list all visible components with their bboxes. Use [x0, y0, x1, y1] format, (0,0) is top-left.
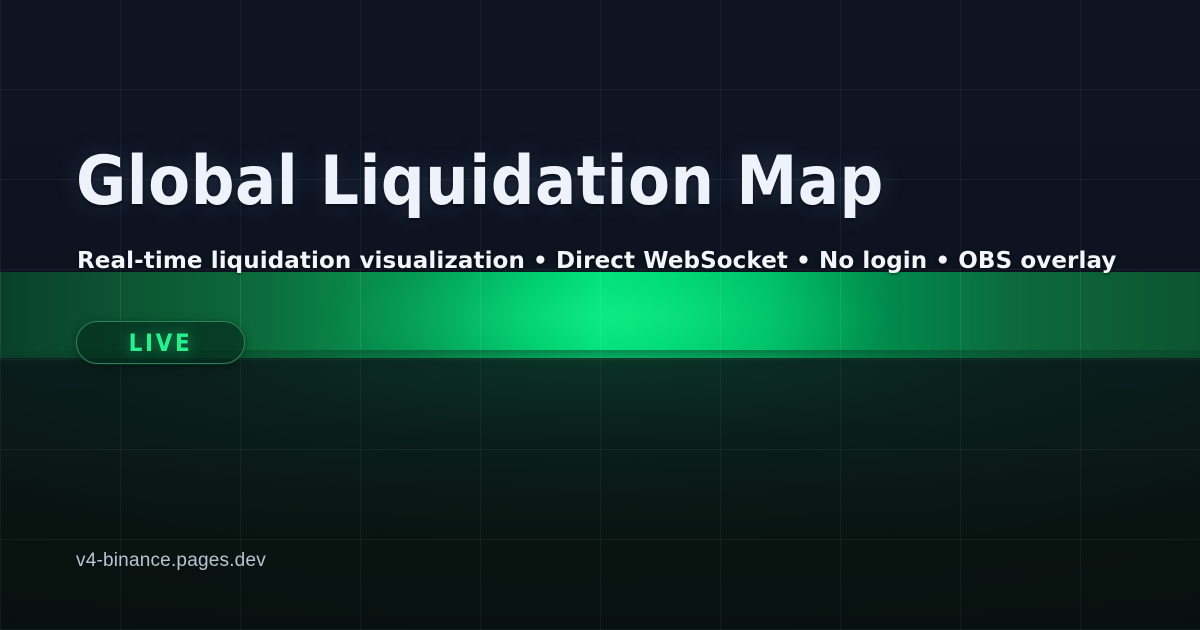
page-title: Global Liquidation Map	[76, 142, 884, 222]
og-social-card: Global Liquidation Map Real-time liquida…	[0, 0, 1200, 630]
footer-url: v4-binance.pages.dev	[76, 548, 266, 574]
status-badge: LIVE	[76, 321, 245, 364]
card-content: Global Liquidation Map Real-time liquida…	[76, 0, 1136, 630]
page-subtitle: Real-time liquidation visualization • Di…	[77, 246, 1116, 276]
status-badge-label: LIVE	[129, 329, 193, 357]
